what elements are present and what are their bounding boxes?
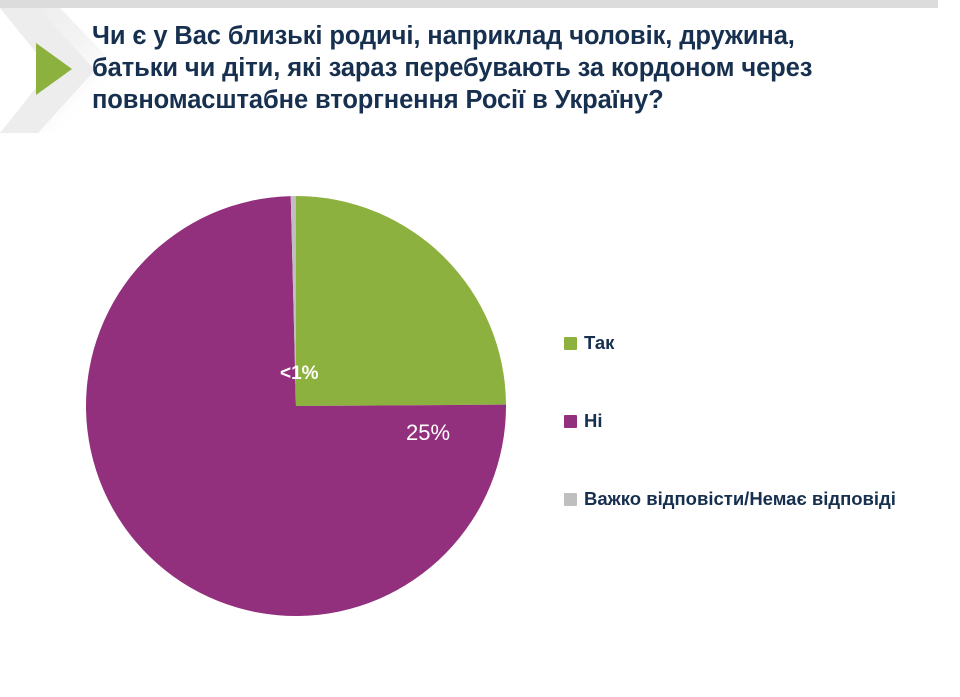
- play-triangle-icon: [36, 43, 72, 95]
- legend-label-yes: Так: [584, 332, 614, 354]
- header-band: Чи є у Вас близькі родичі, наприклад чол…: [0, 0, 960, 140]
- legend-label-no: Ні: [584, 410, 603, 432]
- legend-item-hard-to-say[interactable]: Важко відповісти/Немає відповіді: [564, 486, 954, 512]
- legend-item-no[interactable]: Ні: [564, 408, 954, 434]
- legend-swatch-hard-to-say: [564, 493, 577, 506]
- legend-label-hard-to-say: Важко відповісти/Немає відповіді: [584, 488, 896, 510]
- page-title: Чи є у Вас близькі родичі, наприклад чол…: [92, 20, 952, 116]
- chart-area: <1% 25% 75% Так Ні Важко відповісти/Нема…: [0, 150, 960, 682]
- pie-chart: <1% 25% 75%: [56, 166, 536, 646]
- chart-legend: Так Ні Важко відповісти/Немає відповіді: [564, 330, 954, 512]
- legend-swatch-yes: [564, 337, 577, 350]
- pie-chart-svg: [56, 166, 536, 646]
- pie-slice-1[interactable]: [296, 196, 506, 406]
- pie-label-no: 75%: [155, 671, 199, 697]
- pie-slices: [86, 196, 506, 616]
- legend-swatch-no: [564, 415, 577, 428]
- top-grey-strip: [0, 0, 938, 8]
- legend-item-yes[interactable]: Так: [564, 330, 954, 356]
